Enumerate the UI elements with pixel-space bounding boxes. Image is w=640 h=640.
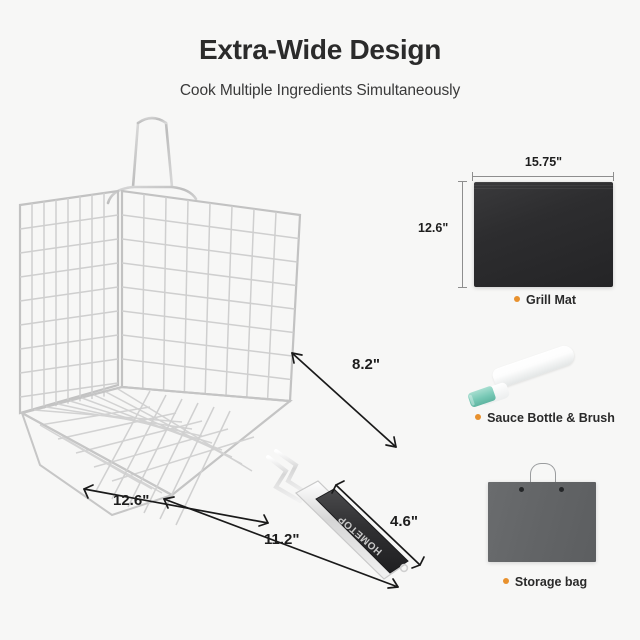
sauce-bottle-label: Sauce Bottle & Brush bbox=[487, 411, 615, 425]
page-title: Extra-Wide Design bbox=[0, 34, 640, 66]
dimension-label-handle: 11.2" bbox=[264, 531, 299, 548]
grill-mat-label: Grill Mat bbox=[526, 293, 576, 307]
basket-right-panel bbox=[122, 191, 300, 401]
dimension-label-handle-width: 4.6" bbox=[390, 513, 418, 530]
basket-bottom-panel bbox=[22, 387, 290, 495]
grill-mat-image bbox=[474, 182, 613, 287]
storage-bag-eyelet-left bbox=[519, 487, 524, 492]
grill-mat-width-line bbox=[472, 176, 614, 177]
grill-mat-caption: Grill Mat bbox=[450, 293, 640, 307]
bullet-dot-icon bbox=[514, 296, 520, 302]
dimension-label-width: 12.6" bbox=[113, 492, 149, 509]
bullet-dot-icon bbox=[475, 414, 481, 420]
storage-bag-eyelet-right bbox=[559, 487, 564, 492]
basket-left-panel bbox=[20, 191, 118, 413]
bullet-dot-icon bbox=[503, 578, 509, 584]
handle-assembly: HOMETOP bbox=[268, 451, 408, 579]
sauce-bottle-image bbox=[466, 352, 586, 406]
grill-mat-height-label: 12.6" bbox=[418, 221, 448, 235]
grill-mat-height-line bbox=[462, 181, 463, 288]
sauce-bottle-caption: Sauce Bottle & Brush bbox=[450, 411, 640, 425]
brush-tip bbox=[467, 385, 496, 408]
grill-mat-width-label: 15.75" bbox=[474, 155, 613, 169]
storage-bag-caption: Storage bag bbox=[450, 575, 640, 589]
dimension-label-depth: 8.2" bbox=[352, 356, 380, 373]
infographic-canvas: Extra-Wide Design Cook Multiple Ingredie… bbox=[0, 0, 640, 640]
grill-basket-illustration: HOMETOP bbox=[0, 95, 440, 615]
storage-bag-label: Storage bag bbox=[515, 575, 587, 589]
storage-bag-image bbox=[488, 482, 596, 562]
